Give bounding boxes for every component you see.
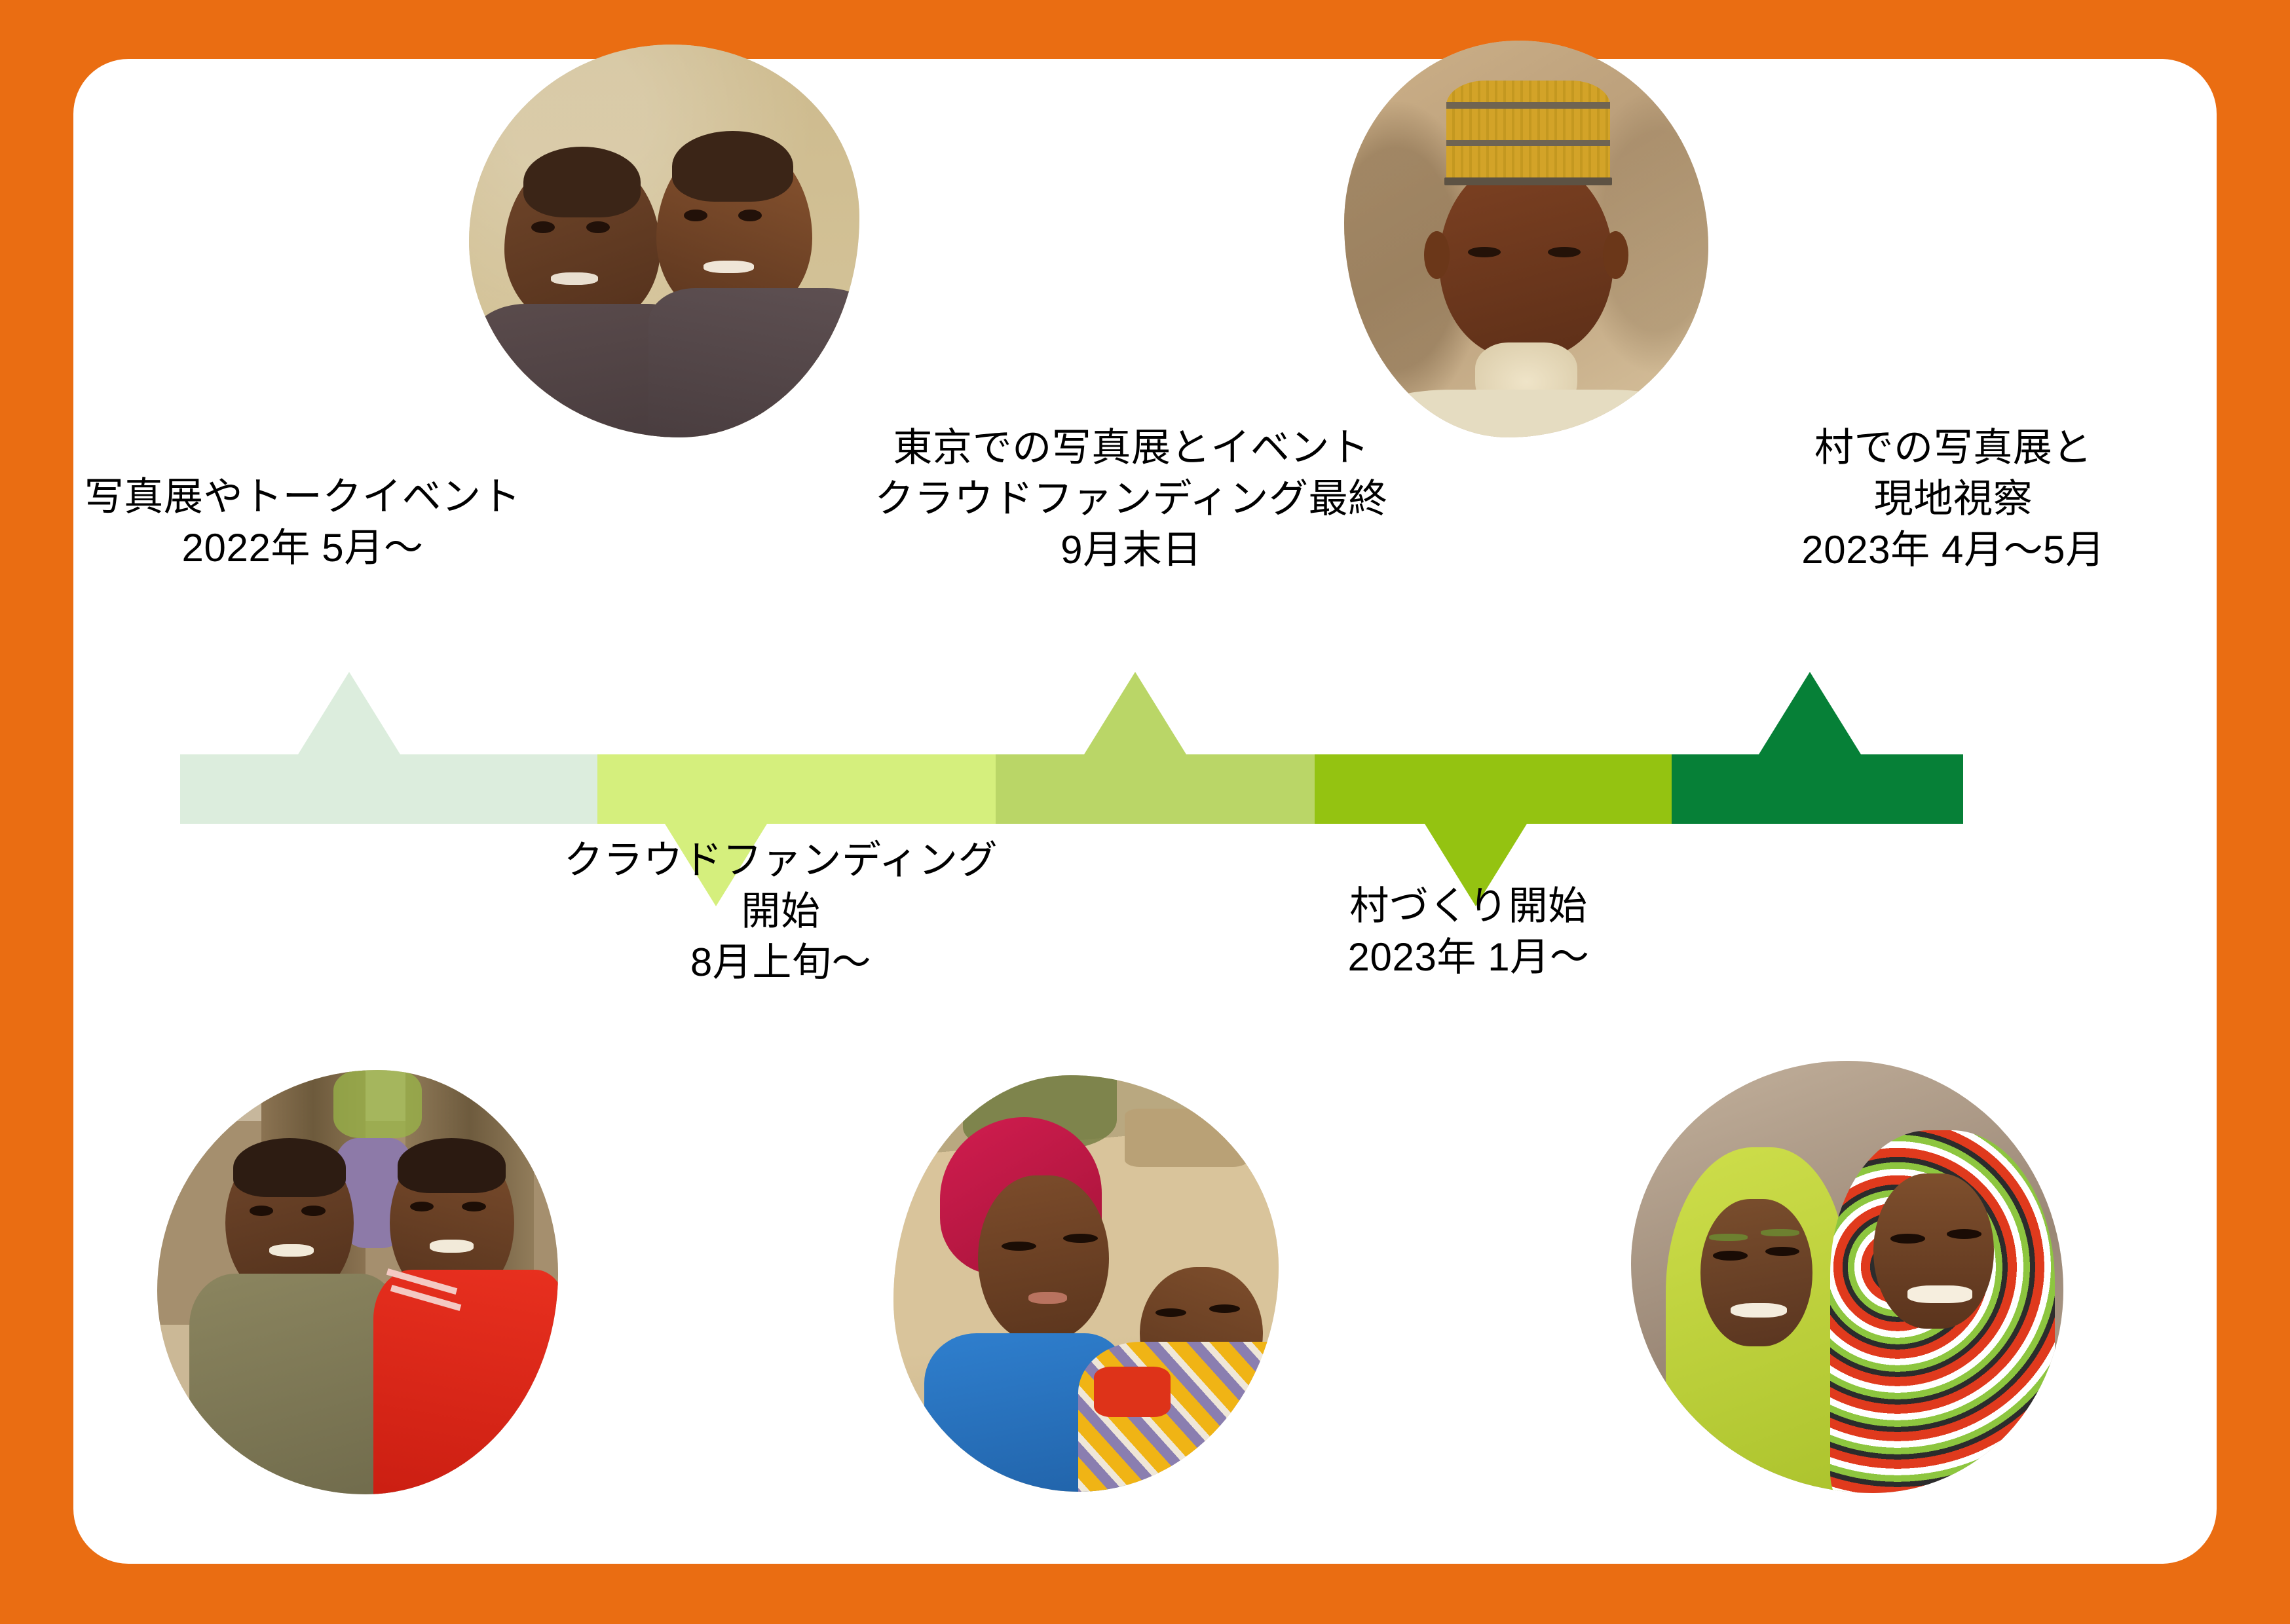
milestone-label-3: 東京での写真展とイベント クラウドファンディング最終 9月末日 <box>820 422 1442 576</box>
timeline-segment-1[interactable] <box>180 754 597 824</box>
two-girls-in-hijabs-photo <box>1631 1061 2063 1493</box>
timeline-marker-up-1 <box>298 672 400 754</box>
milestone-label-1: 写真展やトークイベント 2022年 5月〜 <box>34 471 571 574</box>
timeline-card: 写真展やトークイベント 2022年 5月〜 クラウドファンディング 開始 8月上… <box>73 59 2217 1564</box>
milestone-label-2: クラウドファンディング 開始 8月上旬〜 <box>532 835 1030 988</box>
timeline-segment-4[interactable] <box>1315 754 1672 824</box>
two-boys-against-mud-wall-photo <box>469 45 859 437</box>
timeline-bar <box>180 754 1963 824</box>
timeline-segment-5[interactable] <box>1672 754 1963 824</box>
timeline-marker-up-5 <box>1759 672 1861 754</box>
timeline-marker-up-3 <box>1084 672 1186 754</box>
milestone-label-5: 村での写真展と 現地視察 2023年 4月〜5月 <box>1672 422 2235 576</box>
elder-man-with-kufi-cap-photo <box>1344 41 1708 437</box>
milestone-label-4: 村づくり開始 2023年 1月〜 <box>1239 881 1698 983</box>
timeline-segment-3[interactable] <box>996 754 1315 824</box>
two-youths-arms-crossed-photo <box>157 1070 558 1494</box>
timeline-segment-2[interactable] <box>597 754 996 824</box>
mother-holding-baby-photo <box>893 1075 1279 1492</box>
